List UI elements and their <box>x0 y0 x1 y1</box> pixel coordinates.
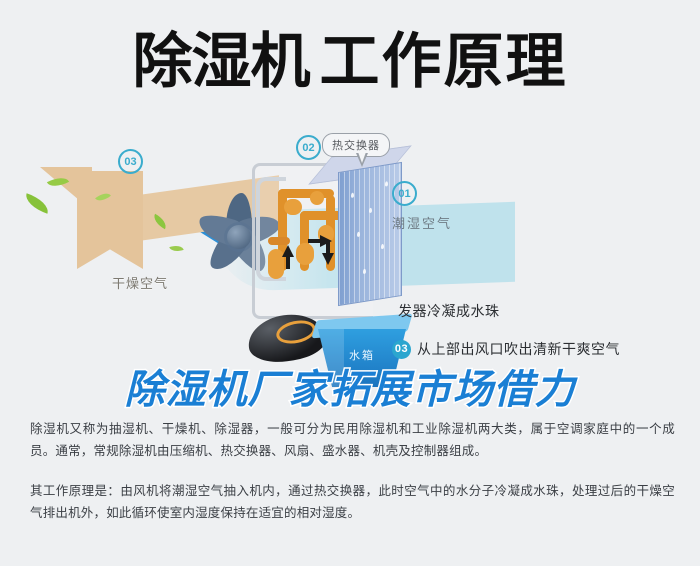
copper-coil-icon <box>268 237 290 245</box>
body-paragraph-1: 除湿机又称为抽湿机、干燥机、除湿器，一般可分为民用除湿机和工业除湿机两大类，属于… <box>30 418 675 462</box>
flow-arrow-stem-icon <box>286 255 290 269</box>
flow-arrow-down-icon <box>322 253 334 265</box>
flow-arrow-up-icon <box>282 245 294 257</box>
step-badge-02-heat-exchanger: 02 <box>296 135 321 160</box>
infographic-page: 除湿机工作原理 干燥空气 <box>0 0 700 566</box>
heat-exchanger-icon <box>338 162 402 306</box>
body-paragraph-2: 其工作原理是：由风机将潮湿空气抽入机内，通过热交换器，此时空气中的水分子冷凝成水… <box>30 480 675 524</box>
copper-fitting-icon <box>284 199 302 215</box>
copper-fitting-icon <box>296 243 314 265</box>
humid-air-label: 潮湿空气 <box>392 213 452 232</box>
page-title: 除湿机工作原理 <box>0 20 700 104</box>
illustration-stage: 干燥空气 <box>0 125 700 410</box>
callout-tail-icon <box>356 153 368 167</box>
page-title-part1: 除湿机 <box>133 28 310 95</box>
caption-step-03-text: 从上部出风口吹出清新干爽空气 <box>417 339 620 359</box>
dry-air-arrowhead-icon <box>40 167 92 211</box>
caption-step-03: 03 从上部出风口吹出清新干爽空气 <box>392 339 620 359</box>
step-badge-01-humid-air: 01 <box>392 181 417 206</box>
step-badge-03-filled: 03 <box>392 340 411 359</box>
caption-step-02: 发器冷凝成水珠 <box>398 301 500 321</box>
body-copy: 除湿机又称为抽湿机、干燥机、除湿器，一般可分为民用除湿机和工业除湿机两大类，属于… <box>30 418 675 530</box>
title-band: 除湿机工作原理 <box>0 0 700 125</box>
heat-exchanger-fins-icon <box>339 163 401 305</box>
fan-hub-icon <box>227 225 251 249</box>
step-badge-03-dry-air: 03 <box>118 149 143 174</box>
copper-fitting-icon <box>310 191 324 205</box>
dry-air-label: 干燥空气 <box>112 273 168 292</box>
page-title-part2: 工作原理 <box>320 28 568 95</box>
